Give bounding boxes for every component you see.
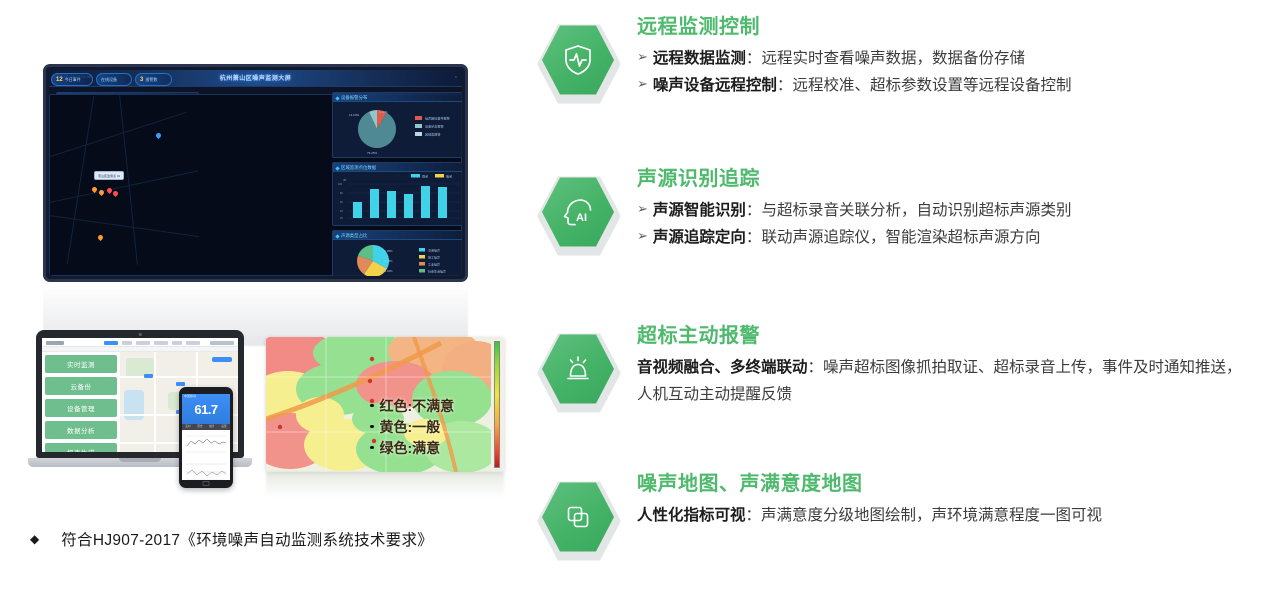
left-media-column: 2021-01-15 13:02:33 杭州萧山区噪声监测大屏 × 事件统计 开… — [0, 0, 515, 598]
legend-row: 黄色:一般 — [370, 416, 454, 437]
bullet-sep: ： — [746, 50, 762, 67]
map-pin-blue[interactable] — [156, 133, 161, 140]
bullet-text: 远程校准、超标参数设置等远程设备控制 — [792, 77, 1071, 94]
feature-icon-wrap — [531, 14, 627, 110]
paragraph-sep: ： — [808, 359, 824, 376]
dashboard-frame: 2021-01-15 13:02:33 杭州萧山区噪声监测大屏 × 事件统计 开… — [43, 64, 468, 282]
bullet-text: 与超标录音关联分析，自动识别超标声源类别 — [761, 202, 1071, 219]
svg-text:其他类报警: 其他类报警 — [425, 132, 440, 137]
svg-text:80: 80 — [340, 192, 343, 195]
svg-text:dB: dB — [343, 179, 346, 182]
feature-icon-wrap — [531, 471, 627, 567]
footnote-text: 符合HJ907-2017《环境噪声自动监测系统技术要求》 — [61, 528, 433, 550]
bullet-text: 远程实时查看噪声数据，数据备份存储 — [761, 50, 1025, 67]
nav-logo — [46, 341, 64, 345]
legend-green: 绿色:满意 — [380, 438, 441, 458]
chip-value: 3 — [140, 77, 143, 83]
panel-alarm-pie: 设备报警分布 6.12% 14.63% — [332, 92, 462, 158]
paragraph-label: 音视频融合、多终端联动 — [637, 359, 808, 376]
sidebar-item-cloud-backup[interactable]: 云备份 — [45, 377, 117, 395]
legend-bullet-icon — [370, 446, 374, 450]
source-pie-body: 21.05% 31.58% 26.32% 交通噪声 施工噪声 工业噪声 社会生活… — [333, 240, 462, 276]
web-navbar — [42, 338, 238, 347]
alarm-pie-body: 6.12% 14.63% 79.25% 噪声超标事件报警 设备状态报警 其他类报… — [333, 102, 462, 157]
phone-status-bar: 中国移动 — [182, 394, 230, 399]
feature-remote-monitoring: 远程监测控制 ➢ 远程数据监测：远程实时查看噪声数据，数据备份存储 ➢ 噪声设备… — [515, 14, 1268, 110]
nav-item[interactable] — [136, 341, 150, 345]
feature-bullet: ➢ 远程数据监测：远程实时查看噪声数据，数据备份存储 — [637, 46, 1071, 71]
svg-text:夜间: 夜间 — [446, 173, 452, 178]
feature-content: 噪声地图、声满意度地图 人性化指标可视：声满意度分级地图绘制，声环境满意程度一图… — [637, 471, 1102, 530]
feature-title: 远程监测控制 — [637, 16, 1071, 38]
legend-red: 红色:不满意 — [380, 396, 455, 416]
laptop-notch — [119, 458, 161, 462]
heatmap-colorbar — [494, 341, 500, 468]
sidebar-item-report[interactable]: 报表生成 — [45, 443, 117, 452]
arrow-bullet-icon: ➢ — [637, 46, 648, 69]
map-marker[interactable] — [144, 374, 153, 378]
nav-item[interactable] — [154, 341, 168, 345]
chip-label: 在线设备 — [101, 77, 117, 83]
svg-text:社会生活噪声: 社会生活噪声 — [428, 268, 446, 273]
svg-text:40: 40 — [340, 210, 343, 213]
pie-legend-alarm: 噪声超标事件报警 设备状态报警 其他类报警 — [415, 116, 450, 137]
arrow-bullet-icon: ➢ — [637, 198, 648, 221]
web-sidebar: 实时监测 云备份 设备管理 数据分析 报表生成 — [42, 352, 120, 452]
feature-bullet: ➢ 噪声设备远程控制：远程校准、超标参数设置等远程设备控制 — [637, 73, 1071, 98]
svg-text:交通噪声: 交通噪声 — [428, 247, 440, 252]
satisfaction-heatmap: 红色:不满意 黄色:一般 绿色:满意 — [266, 337, 504, 472]
feature-source-identification: AI 声源识别追踪 ➢ 声源智能识别：与超标录音关联分析，自动识别超标声源类别 … — [515, 166, 1268, 262]
svg-text:6.12%: 6.12% — [379, 110, 388, 114]
svg-text:20: 20 — [340, 217, 343, 220]
svg-text:施工噪声: 施工噪声 — [428, 254, 440, 259]
feature-content: 声源识别追踪 ➢ 声源智能识别：与超标录音关联分析，自动识别超标声源类别 ➢ 声… — [637, 166, 1071, 252]
map-pin-orange[interactable] — [92, 187, 97, 194]
legend-yellow: 黄色:一般 — [380, 417, 441, 437]
pie-chart-source: 21.05% 31.58% 26.32% 交通噪声 施工噪声 工业噪声 社会生活… — [333, 240, 462, 276]
bullet-sep: ： — [746, 202, 762, 219]
map-pin-red[interactable] — [113, 191, 118, 198]
svg-text:昼间: 昼间 — [422, 173, 428, 178]
nav-user[interactable] — [210, 341, 234, 345]
feature-noise-map: 噪声地图、声满意度地图 人性化指标可视：声满意度分级地图绘制，声环境满意程度一图… — [515, 471, 1268, 567]
feature-title: 声源识别追踪 — [637, 168, 1071, 190]
nav-item[interactable] — [172, 341, 182, 345]
legend-row: 绿色:满意 — [370, 437, 454, 458]
svg-text:26.32%: 26.32% — [383, 269, 393, 273]
panel-map: 12 今日事件 在线设备 3 报警数 — [49, 70, 174, 262]
chip-value: 12 — [56, 77, 63, 83]
panel-title-source-pie: 声源类型占比 — [333, 231, 462, 240]
feature-title: 噪声地图、声满意度地图 — [637, 473, 1102, 495]
svg-text:79.25%: 79.25% — [367, 151, 378, 155]
bullet-label: 声源智能识别 — [653, 202, 746, 219]
phone-mockup: 中国移动 61.7 实时 历史 统计 设置 — [179, 387, 233, 488]
nav-item[interactable] — [186, 341, 200, 345]
panel-title-alarm-pie: 设备报警分布 — [333, 93, 462, 102]
diamond-bullet-icon: ◆ — [30, 533, 39, 545]
map-tooltip: 萧山区监测点 01 — [94, 171, 124, 180]
panel-source-pie: 声源类型占比 21.05% — [332, 230, 462, 276]
chip-label: 报警数 — [145, 77, 157, 83]
bullet-sep: ： — [777, 77, 793, 94]
webcam-icon — [139, 333, 142, 336]
bullet-text: 联动声源追踪仪，智能渲染超标声源方向 — [761, 229, 1040, 246]
paragraph-label: 人性化指标可视 — [637, 507, 746, 524]
nav-item-active[interactable] — [104, 341, 118, 345]
svg-text:噪声超标事件报警: 噪声超标事件报警 — [425, 116, 450, 121]
bullet-label: 远程数据监测 — [653, 50, 746, 67]
map-action-button[interactable] — [212, 357, 232, 362]
svg-text:60: 60 — [340, 201, 343, 204]
map-stat-chips: 12 今日事件 在线设备 3 报警数 — [49, 70, 462, 92]
pie-legend-source: 交通噪声 施工噪声 工业噪声 社会生活噪声 — [419, 247, 446, 273]
feature-paragraph: 人性化指标可视：声满意度分级地图绘制，声环境满意程度一图可视 — [637, 503, 1102, 530]
footnote: ◆ 符合HJ907-2017《环境噪声自动监测系统技术要求》 — [30, 528, 433, 550]
bullet-label: 噪声设备远程控制 — [653, 77, 777, 94]
panel-bar-chart: 区域监测点位数据 昼间 夜间 — [332, 162, 462, 226]
phone-header: 中国移动 61.7 — [182, 394, 230, 424]
map-pin-orange[interactable] — [98, 235, 103, 242]
legend-bullet-icon — [370, 404, 374, 408]
phone-waveform-chart — [182, 430, 230, 480]
svg-text:100: 100 — [338, 183, 343, 186]
svg-text:21.05%: 21.05% — [383, 249, 393, 253]
map-marker[interactable] — [176, 382, 185, 386]
slide-root: 2021-01-15 13:02:33 杭州萧山区噪声监测大屏 × 事件统计 开… — [0, 0, 1268, 598]
feature-active-alarm: 超标主动报警 音视频融合、多终端联动：噪声超标图像抓拍取证、超标录音上传，事件及… — [515, 323, 1268, 419]
dashboard-screenshot: 2021-01-15 13:02:33 杭州萧山区噪声监测大屏 × 事件统计 开… — [43, 64, 468, 282]
svg-text:工业噪声: 工业噪声 — [428, 261, 440, 266]
sidebar-item-data-analysis[interactable]: 数据分析 — [45, 421, 117, 439]
bar-legend: 昼间 夜间 — [411, 173, 452, 178]
map-pin-red[interactable] — [107, 188, 112, 195]
bullet-sep: ： — [746, 229, 762, 246]
nav-item[interactable] — [122, 341, 132, 345]
feature-icon-wrap — [531, 323, 627, 419]
pie-chart-alarm: 6.12% 14.63% 79.25% 噪声超标事件报警 设备状态报警 其他类报… — [333, 102, 462, 158]
legend-bullet-icon — [370, 425, 374, 429]
feature-title: 超标主动报警 — [637, 325, 1257, 347]
phone-chart-area — [182, 430, 230, 480]
feature-paragraph: 音视频融合、多终端联动：噪声超标图像抓拍取证、超标录音上传，事件及时通知推送，人… — [637, 355, 1257, 408]
arrow-bullet-icon: ➢ — [637, 225, 648, 248]
sidebar-item-realtime[interactable]: 实时监测 — [45, 355, 117, 373]
phone-noise-value: 61.7 — [182, 402, 230, 417]
stat-chip-online-devices[interactable]: 在线设备 — [96, 73, 132, 86]
sidebar-item-device-manage[interactable]: 设备管理 — [45, 399, 117, 417]
heatmap-reflection — [266, 472, 504, 498]
dashboard-screen: 2021-01-15 13:02:33 杭州萧山区噪声监测大屏 × 事件统计 开… — [49, 70, 462, 276]
bullet-label: 声源追踪定向 — [653, 229, 746, 246]
legend-row: 红色:不满意 — [370, 395, 454, 416]
stat-chip-today-events[interactable]: 12 今日事件 — [51, 73, 93, 86]
feature-icon-wrap: AI — [531, 166, 627, 262]
feature-bullet: ➢ 声源追踪定向：联动声源追踪仪，智能渲染超标声源方向 — [637, 225, 1071, 250]
svg-text:设备状态报警: 设备状态报警 — [425, 124, 444, 129]
heatmap-legend: 红色:不满意 黄色:一般 绿色:满意 — [370, 395, 454, 458]
paragraph-text: 声满意度分级地图绘制，声环境满意程度一图可视 — [761, 507, 1102, 524]
chip-label: 今日事件 — [65, 77, 81, 83]
feature-content: 超标主动报警 音视频融合、多终端联动：噪声超标图像抓拍取证、超标录音上传，事件及… — [637, 323, 1257, 408]
phone-home-button[interactable] — [203, 481, 210, 486]
svg-text:31.58%: 31.58% — [383, 259, 393, 263]
arrow-bullet-icon: ➢ — [637, 73, 648, 96]
feature-bullet: ➢ 声源智能识别：与超标录音关联分析，自动识别超标声源类别 — [637, 198, 1071, 223]
map-pin-orange[interactable] — [99, 190, 104, 197]
svg-text:14.63%: 14.63% — [349, 113, 360, 117]
svg-text:AI: AI — [576, 212, 587, 224]
feature-content: 远程监测控制 ➢ 远程数据监测：远程实时查看噪声数据，数据备份存储 ➢ 噪声设备… — [637, 14, 1071, 100]
features-column: 远程监测控制 ➢ 远程数据监测：远程实时查看噪声数据，数据备份存储 ➢ 噪声设备… — [515, 0, 1268, 598]
bar-chart-region: 昼间 夜间 — [333, 172, 462, 226]
panel-title-bar: 区域监测点位数据 — [333, 163, 462, 172]
stat-chip-alarms[interactable]: 3 报警数 — [135, 73, 172, 86]
bar-chart-body: 昼间 夜间 — [333, 172, 462, 225]
phone-screen: 中国移动 61.7 实时 历史 统计 设置 — [182, 394, 230, 480]
paragraph-sep: ： — [746, 507, 762, 524]
